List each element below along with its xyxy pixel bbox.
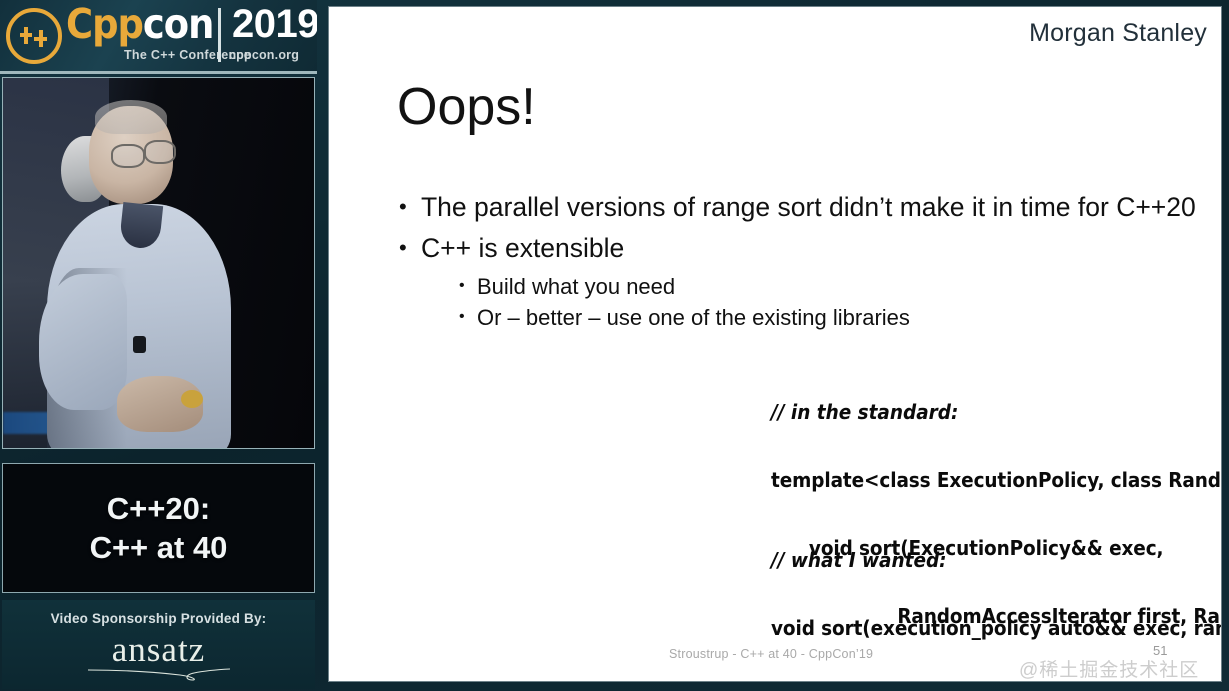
speaker-glasses-left [111,144,145,168]
site-watermark: @稀土掘金技术社区 [1019,655,1199,682]
code-comment: // in the standard: [771,397,1222,427]
sub-bullet-item: Build what you need [453,271,1217,302]
cppcon-wordmark-cpp: Cpp [66,0,143,48]
presentation-clicker-icon [181,390,203,408]
sub-bullet-item: Or – better – use one of the existing li… [453,302,1217,333]
screen-capture: Cppcon The C++ Conference 2019 cppcon.or… [0,0,1229,691]
talk-title-line-2: C++ at 40 [90,528,228,567]
code-comment: // what I wanted: [771,545,1222,575]
cppcon-wordmark: Cppcon [66,4,213,45]
code-line: void sort(execution_policy auto&& exec, … [771,613,1222,643]
morgan-stanley-logo: Morgan Stanley [1029,19,1207,48]
speaker-glasses-right [144,140,176,164]
talk-title-panel: C++20: C++ at 40 [2,463,315,593]
presentation-slide: Morgan Stanley Oops! The parallel versio… [328,6,1222,682]
slide-title: Oops! [397,79,536,135]
conference-website: cppcon.org [229,48,299,62]
conference-year: 2019 [232,2,317,46]
cppcon-wordmark-con: con [143,0,213,48]
speaker-hair-top [95,100,167,134]
bullet-item: The parallel versions of range sort didn… [391,187,1217,228]
code-line: { [771,681,1222,682]
cppcon-branding-header: Cppcon The C++ Conference 2019 cppcon.or… [0,0,317,74]
sponsor-label: Video Sponsorship Provided By: [2,611,315,626]
sponsor-panel: Video Sponsorship Provided By: ansatz [2,600,315,689]
sponsor-name: ansatz [2,630,315,670]
conference-sidebar: Cppcon The C++ Conference 2019 cppcon.or… [0,0,317,691]
talk-title-line-1: C++20: [107,489,210,528]
speaker-arm [39,274,127,410]
lapel-microphone-icon [133,336,146,353]
slide-bullet-list: The parallel versions of range sort didn… [391,187,1217,333]
slide-footer: Stroustrup - C++ at 40 - CppCon’19 [669,647,873,661]
cppcon-plusplus-circle-icon [6,8,62,64]
bullet-item: C++ is extensible [391,228,1217,269]
header-divider [218,8,221,62]
code-line: template<class ExecutionPolicy, class Ra… [771,465,1222,495]
speaker-video-feed: Bjarne Stroustrup [2,77,315,449]
